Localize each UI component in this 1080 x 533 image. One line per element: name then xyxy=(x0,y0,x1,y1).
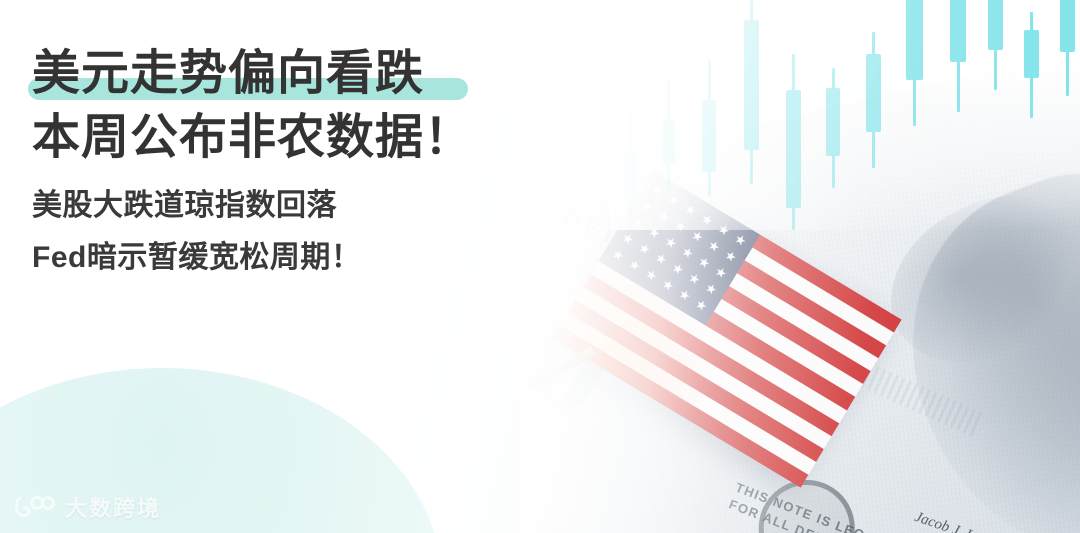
flag-star-icon: ★ xyxy=(656,208,673,225)
flag-star-icon: ★ xyxy=(629,214,646,231)
flag-star-icon: ★ xyxy=(713,264,730,281)
flag-star-icon: ★ xyxy=(660,277,677,294)
brand-watermark: 大数跨境 xyxy=(14,491,161,523)
headline-line-2: 本周公布非农数据！ xyxy=(32,106,552,170)
currency-photo: 20 20 FEDERAL G THIS NOTE IS LEGAL TENDE… xyxy=(520,0,1080,533)
flag-star-icon: ★ xyxy=(699,211,716,228)
headline-line-2-text: 本周公布非农数据！ xyxy=(32,111,473,164)
brand-watermark-text: 大数跨境 xyxy=(65,491,161,523)
flag-star-icon: ★ xyxy=(706,238,723,255)
flag-star-icon: ★ xyxy=(666,191,683,208)
brand-logo-icon xyxy=(14,494,56,520)
flag-star-icon: ★ xyxy=(703,280,720,297)
subheadline-line-2: Fed暗示暂缓宽松周期！ xyxy=(32,232,552,284)
subheadline-line-1: 美股大跌道琼指数回落 xyxy=(32,180,552,232)
flag-star-icon: ★ xyxy=(669,260,686,277)
flag-star-icon: ★ xyxy=(676,287,693,304)
flag-star-icon: ★ xyxy=(689,228,706,245)
flag-star-icon: ★ xyxy=(663,234,680,251)
flag-star-icon: ★ xyxy=(639,198,656,215)
flag-star-icon: ★ xyxy=(696,254,713,271)
headline-block: 美元走势偏向看跌 本周公布非农数据！ 美股大跌道琼指数回落 Fed暗示暂缓宽松周… xyxy=(32,42,552,284)
subheadline-block: 美股大跌道琼指数回落 Fed暗示暂缓宽松周期！ xyxy=(32,180,552,284)
flag-star-icon: ★ xyxy=(672,218,689,235)
flag-star-icon: ★ xyxy=(646,224,663,241)
flag-star-icon: ★ xyxy=(619,230,636,247)
flag-star-icon: ★ xyxy=(732,231,749,248)
flag-star-icon: ★ xyxy=(722,248,739,265)
flag-star-icon: ★ xyxy=(693,297,710,314)
flag-star-icon: ★ xyxy=(636,240,653,257)
headline-line-1-text: 美元走势偏向看跌 xyxy=(32,47,424,100)
flag-star-icon: ★ xyxy=(649,181,666,198)
flag-star-icon: ★ xyxy=(686,270,703,287)
flag-star-icon: ★ xyxy=(610,247,627,264)
headline-line-1: 美元走势偏向看跌 xyxy=(32,42,552,106)
flag-star-icon: ★ xyxy=(643,267,660,284)
flag-star-icon: ★ xyxy=(653,250,670,267)
flag-star-icon: ★ xyxy=(716,221,733,238)
flag-star-icon: ★ xyxy=(626,257,643,274)
flag-star-icon: ★ xyxy=(679,244,696,261)
flag-star-icon: ★ xyxy=(682,201,699,218)
promo-banner: 20 20 FEDERAL G THIS NOTE IS LEGAL TENDE… xyxy=(0,0,1080,533)
